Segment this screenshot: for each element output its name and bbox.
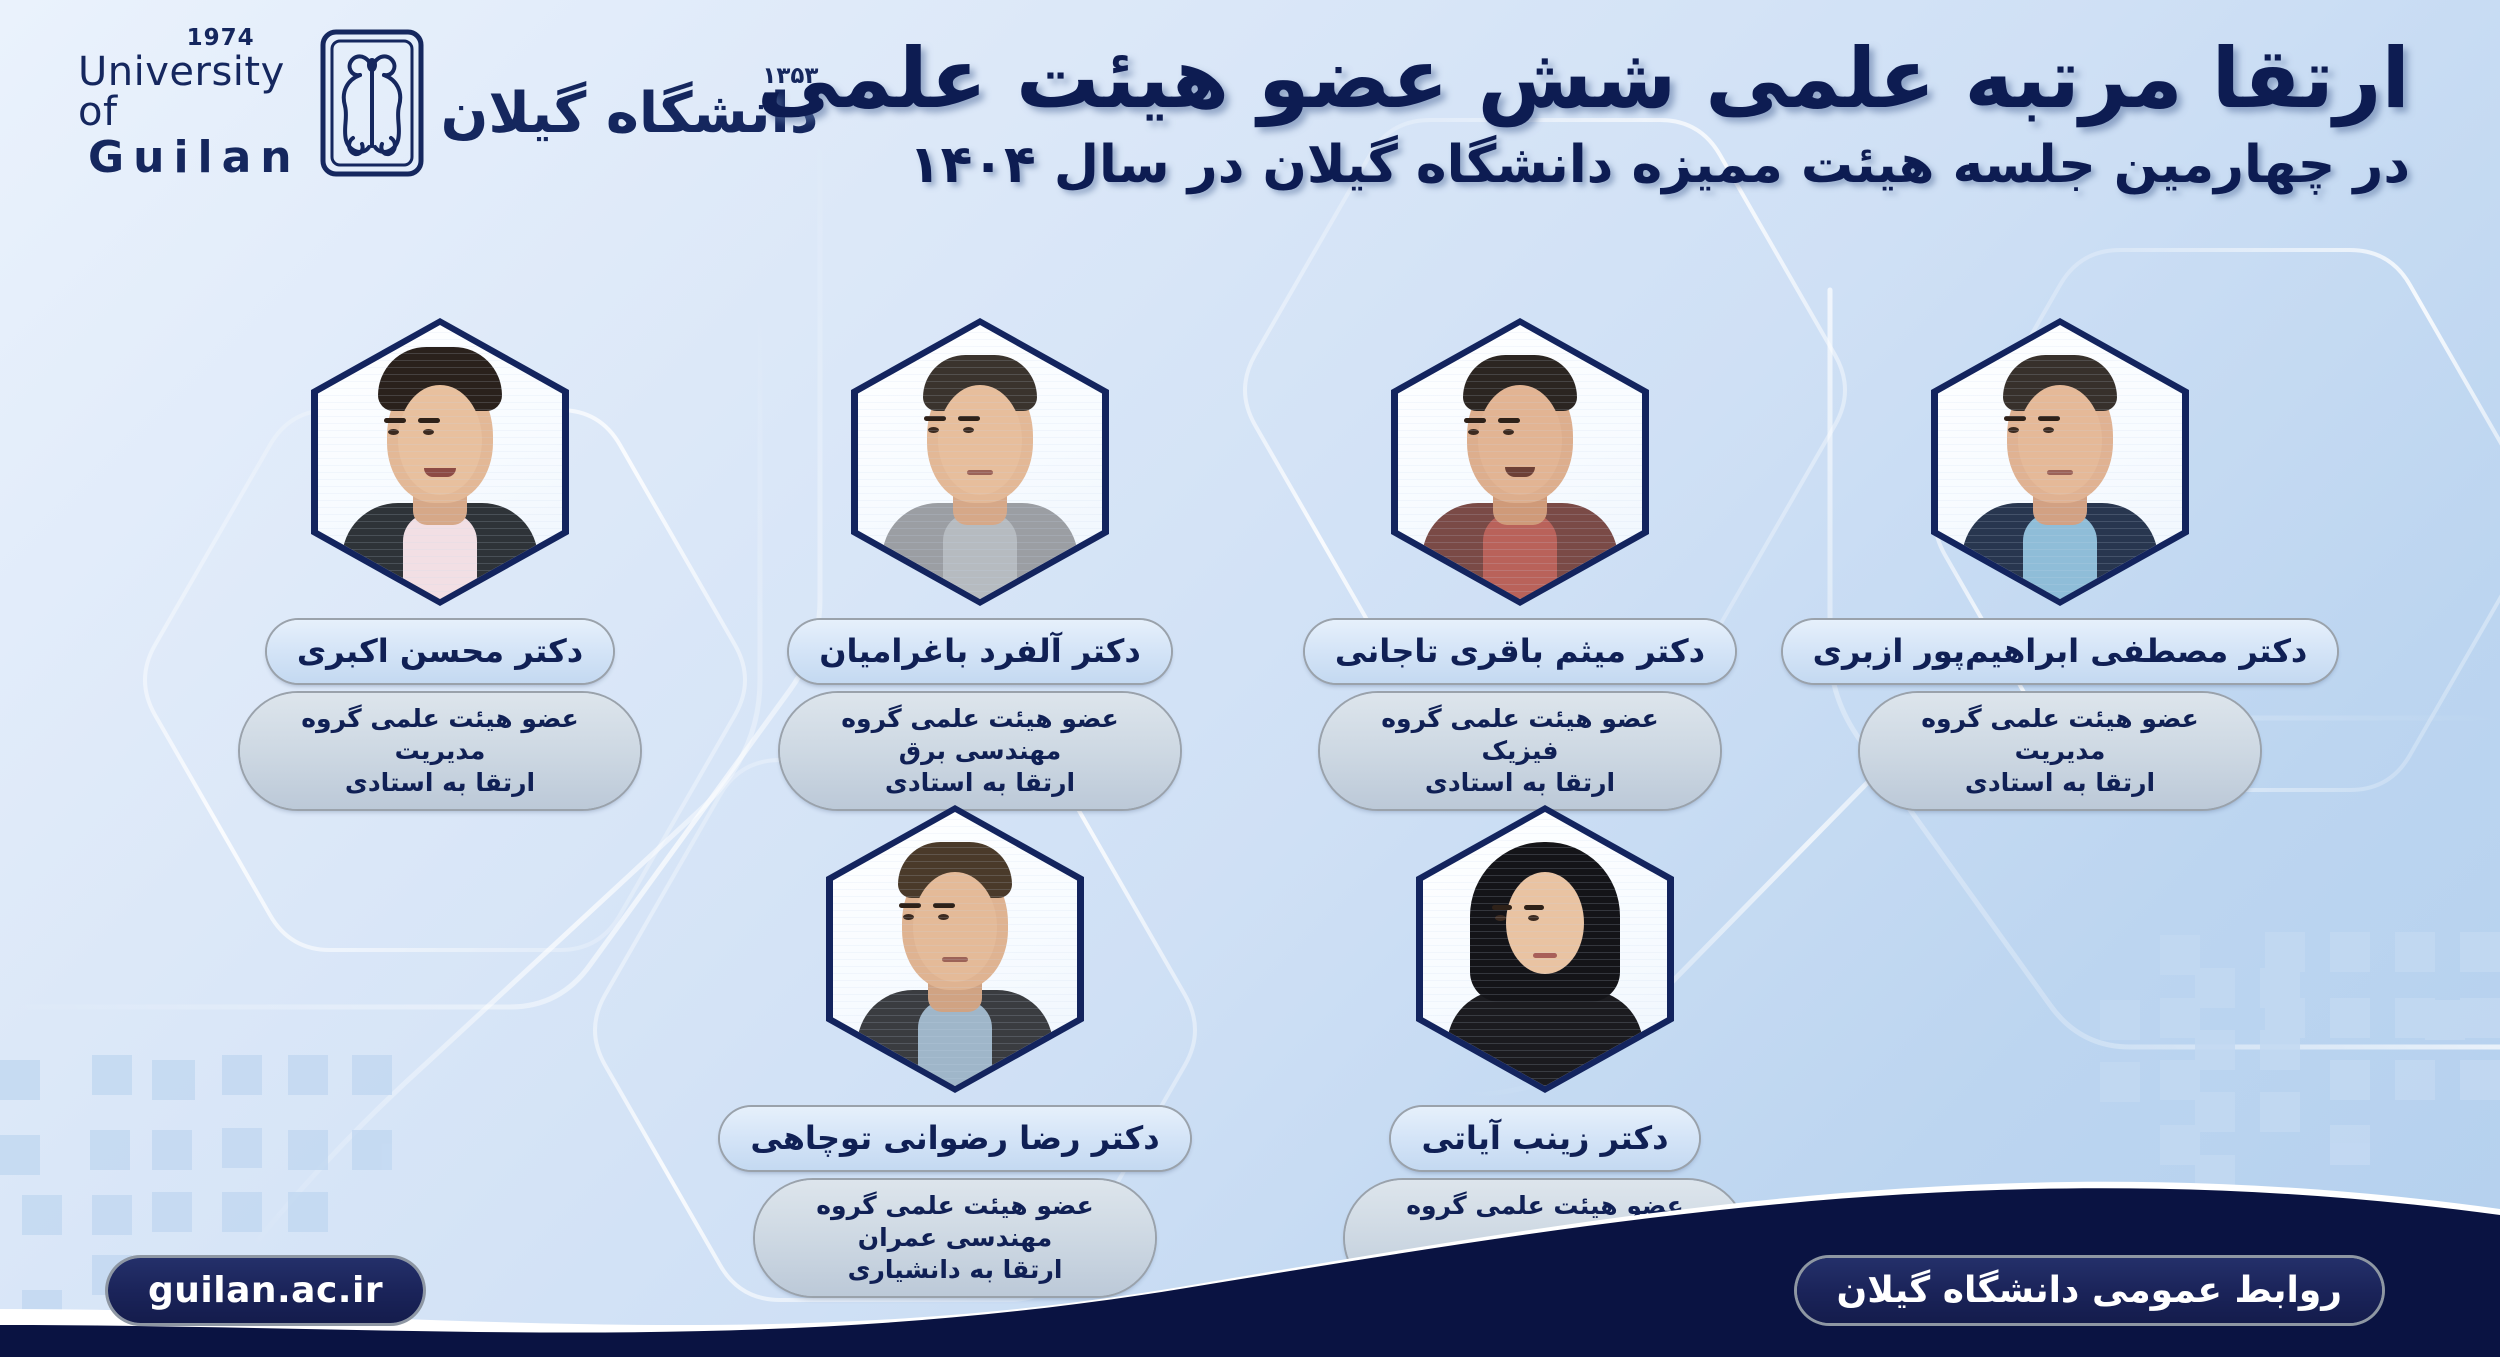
person-name: دکتر مصطفی ابراهیم‌پور ازبری bbox=[1783, 620, 2338, 683]
person-role: عضو هیئت علمی گروه مدیریت ارتقا به استاد… bbox=[1860, 693, 2260, 809]
title-block: ارتقا مرتبه علمی شش عضو هیئت علمی در چها… bbox=[990, 30, 2410, 196]
logo-year-en: 1974 bbox=[187, 27, 255, 50]
person-card: دکتر محسن اکبری عضو هیئت علمی گروه مدیری… bbox=[240, 318, 640, 809]
person-card: دکتر آلفرد باغرامیان عضو هیئت علمی گروه … bbox=[780, 318, 1180, 809]
page-subtitle: در چهارمین جلسه هیئت ممیزه دانشگاه گیلان… bbox=[990, 134, 2410, 196]
person-role: عضو هیئت علمی گروه مهندسی برق ارتقا به ا… bbox=[780, 693, 1180, 809]
person-name: دکتر محسن اکبری bbox=[267, 620, 613, 683]
person-name: دکتر میثم باقری تاجانی bbox=[1305, 620, 1735, 683]
person-role: عضو هیئت علمی گروه فیزیک ارتقا به استادی bbox=[1320, 693, 1720, 809]
poster-root: 1974 University of Guilan bbox=[0, 0, 2500, 1357]
photo-frame bbox=[826, 805, 1084, 1093]
people-row-top: دکتر مصطفی ابراهیم‌پور ازبری عضو هیئت عل… bbox=[0, 318, 2500, 809]
person-role: عضو هیئت علمی گروه مدیریت ارتقا به استاد… bbox=[240, 693, 640, 809]
public-relations-badge: روابط عمومی دانشگاه گیلان bbox=[1797, 1258, 2382, 1323]
person-card: دکتر مصطفی ابراهیم‌پور ازبری عضو هیئت عل… bbox=[1860, 318, 2260, 809]
website-link[interactable]: guilan.ac.ir bbox=[108, 1258, 423, 1323]
logo-guilan: Guilan bbox=[88, 136, 301, 180]
person-name: دکتر آلفرد باغرامیان bbox=[789, 620, 1171, 683]
photo-frame bbox=[1931, 318, 2189, 606]
university-logo: 1974 University of Guilan bbox=[78, 28, 798, 178]
photo-frame bbox=[851, 318, 1109, 606]
logo-english-text: 1974 University of Guilan bbox=[78, 27, 301, 180]
photo-frame bbox=[311, 318, 569, 606]
photo-frame bbox=[1416, 805, 1674, 1093]
person-card: دکتر میثم باقری تاجانی عضو هیئت علمی گرو… bbox=[1320, 318, 1720, 809]
page-title: ارتقا مرتبه علمی شش عضو هیئت علمی bbox=[990, 30, 2410, 128]
logo-university-of: University of bbox=[78, 52, 301, 132]
photo-frame bbox=[1391, 318, 1649, 606]
guilan-emblem-icon bbox=[319, 28, 425, 178]
